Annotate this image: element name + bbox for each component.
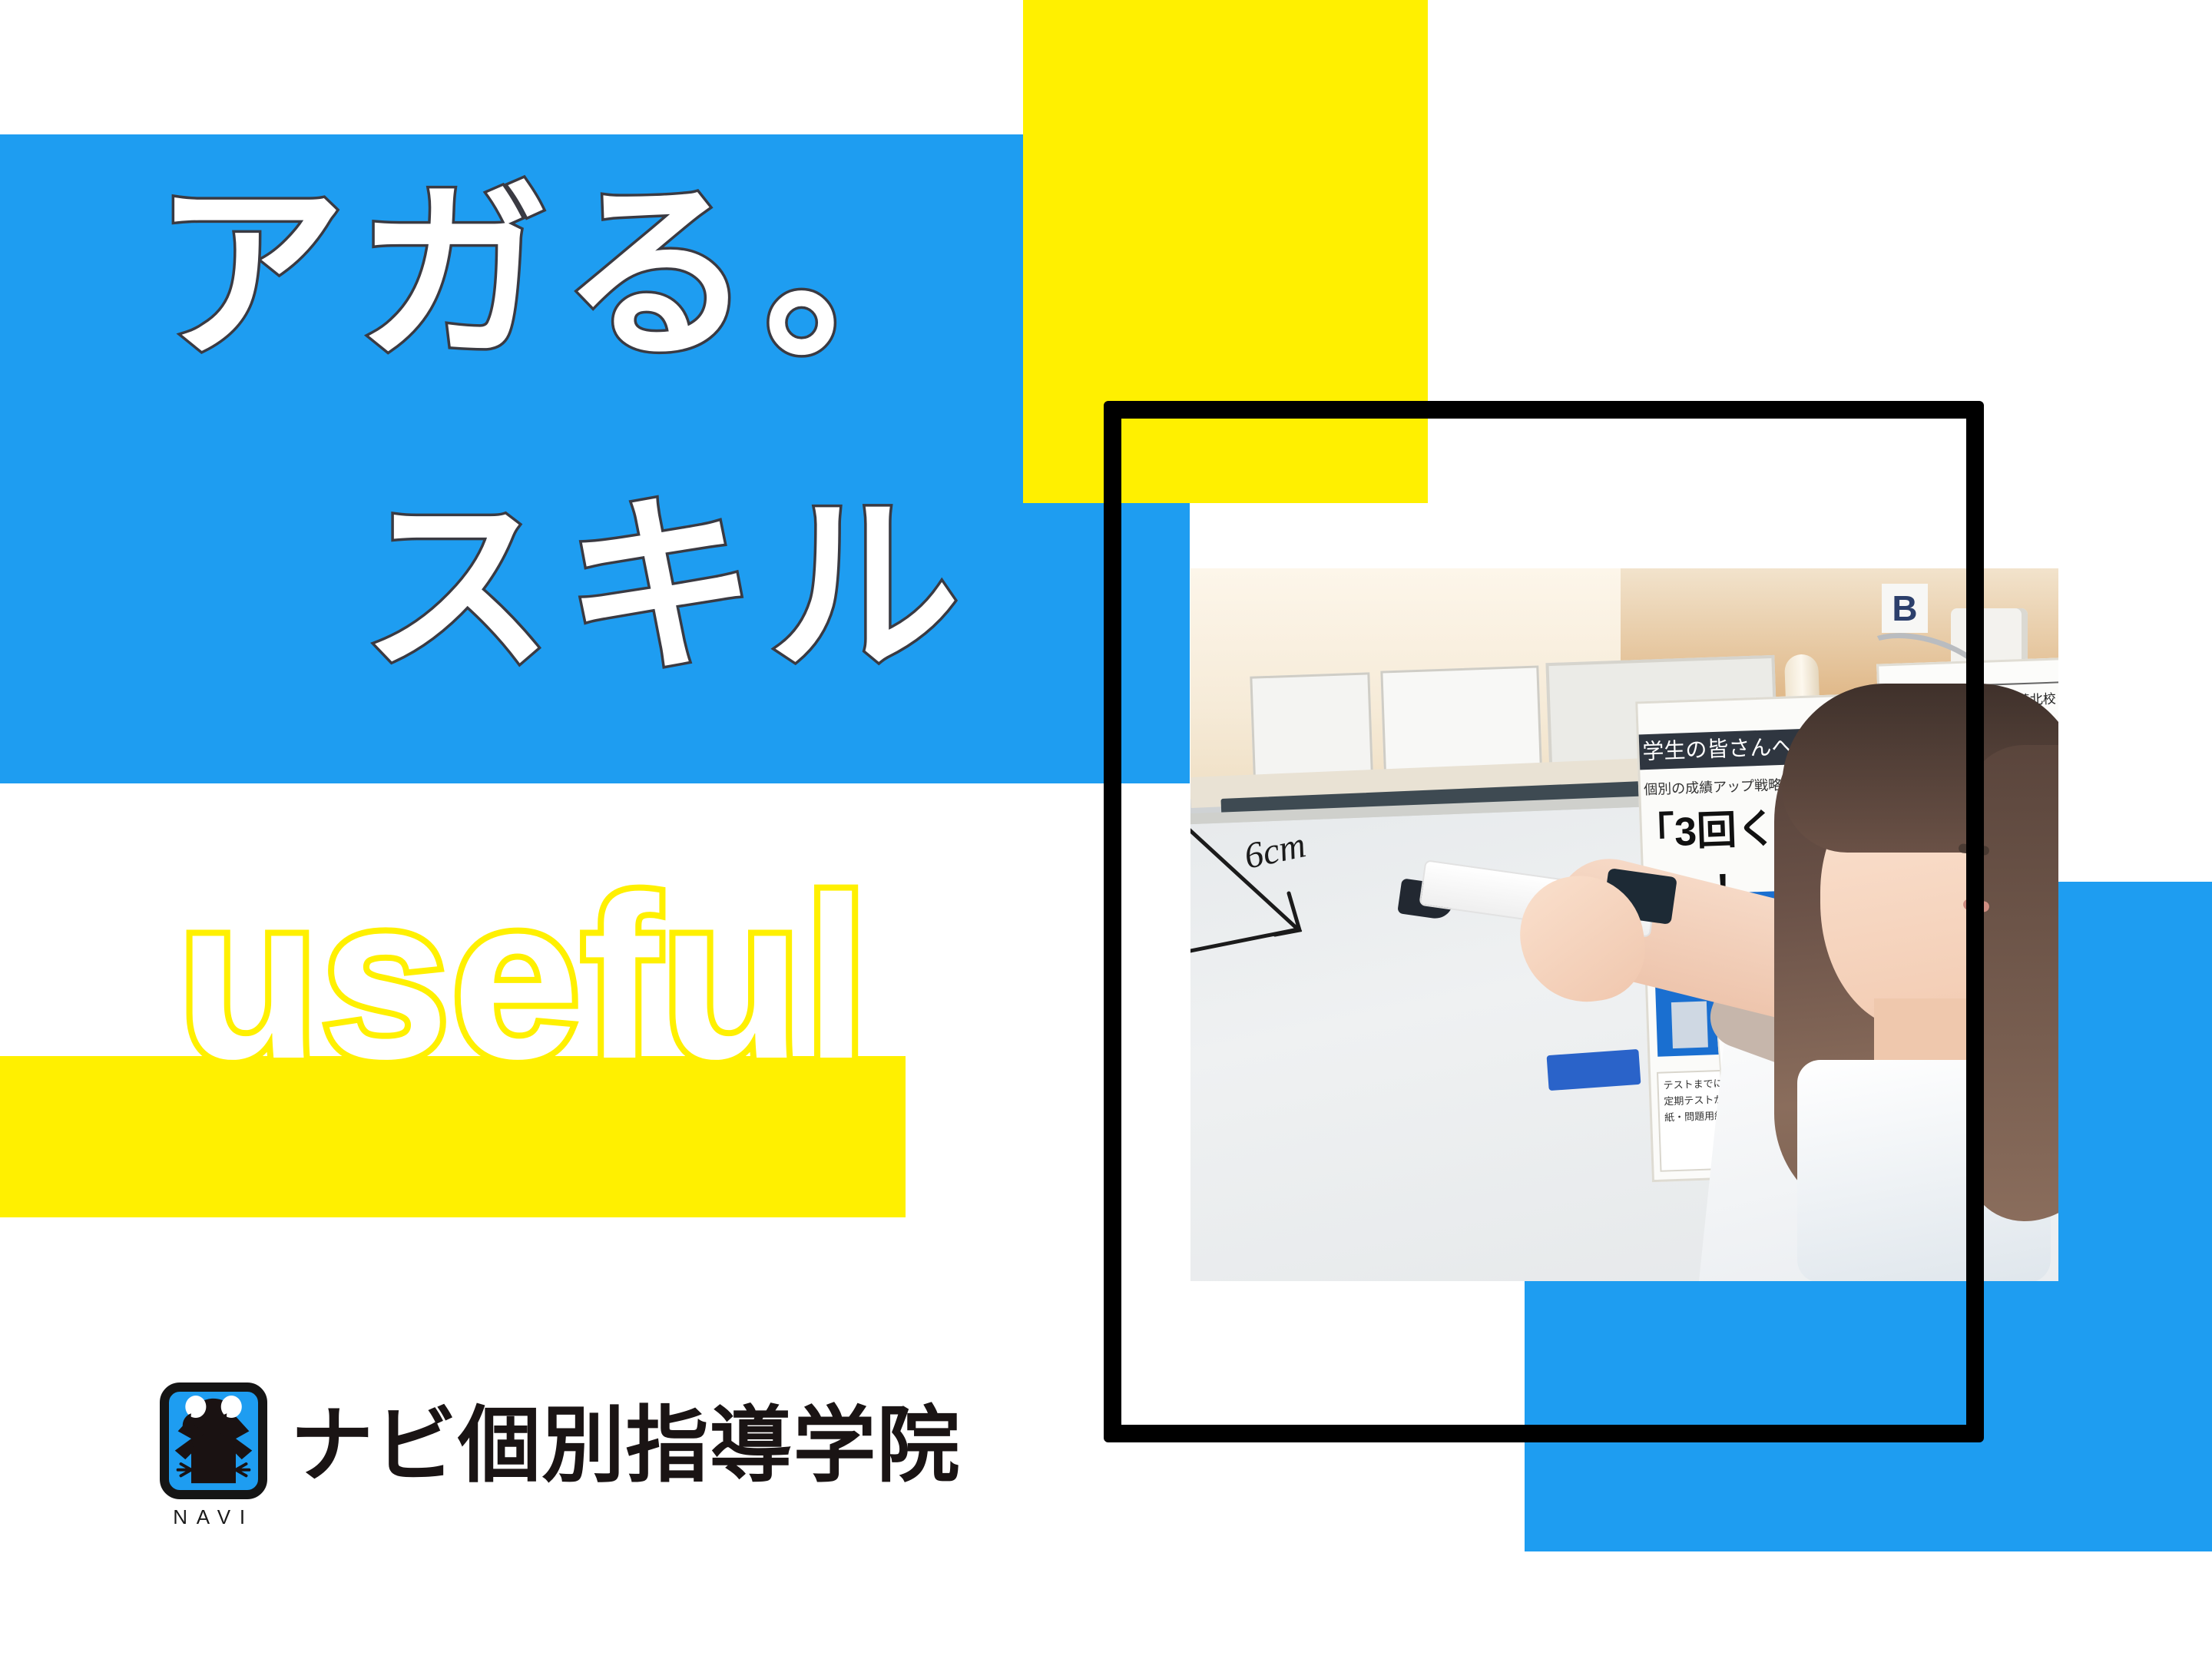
- poster1-subheading: 個別の成績アップ戦略は: [1644, 773, 1796, 799]
- navi-logo-text: NAVI: [160, 1505, 267, 1529]
- brand-logo: NAVI ナビ個別指導学院: [160, 1382, 961, 1529]
- headline-line-3: useful: [178, 863, 870, 1093]
- poster1-bar-1: [1671, 1002, 1708, 1049]
- headline-line-2: スキル: [361, 492, 972, 684]
- brand-name: ナビ個別指導学院: [290, 1404, 961, 1487]
- classroom-photo: B 6cm ?cm 学生の皆さんへ 個別の成績アップ戦略は: [1190, 568, 2058, 1281]
- yellow-block-top-right: [1023, 0, 1428, 503]
- photo-board-letter: B: [1882, 584, 1928, 633]
- photo-blue-clip: [1547, 1049, 1641, 1091]
- navi-owl-mascot-icon: [160, 1382, 267, 1499]
- headline-line-1: アガる。: [154, 178, 968, 370]
- photo-student-hair-front: [1966, 745, 2058, 1221]
- navi-logo-mark: NAVI: [160, 1382, 267, 1529]
- poster-canvas: アガる。 スキル useful B 6cm ?cm: [0, 0, 2212, 1659]
